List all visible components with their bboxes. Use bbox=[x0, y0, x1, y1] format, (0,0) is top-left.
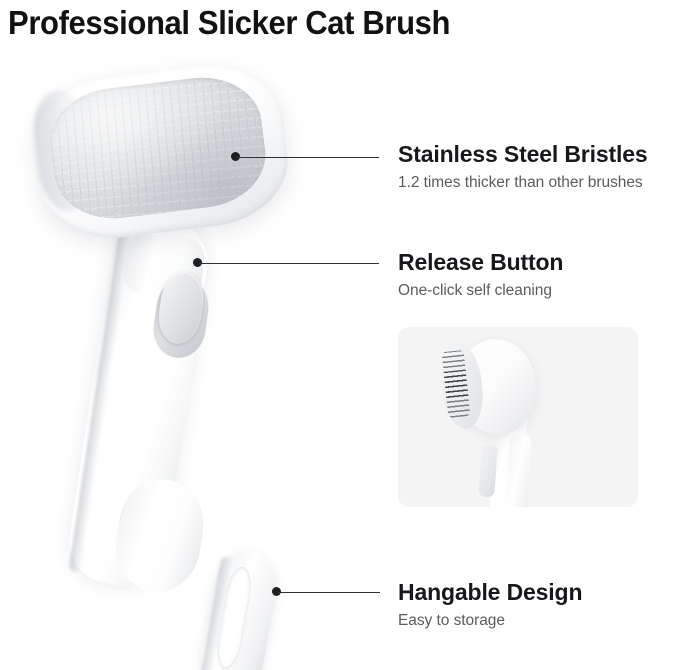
callout-release-subtext: One-click self cleaning bbox=[398, 280, 563, 302]
bristle-pad-sheen bbox=[45, 71, 271, 226]
callout-release-heading: Release Button bbox=[398, 249, 563, 276]
callout-bristles: Stainless Steel Bristles 1.2 times thick… bbox=[398, 141, 648, 194]
callout-release: Release Button One-click self cleaning bbox=[398, 249, 563, 302]
inset-stem bbox=[506, 434, 532, 507]
callout-bristles-subtext: 1.2 times thicker than other brushes bbox=[398, 172, 648, 194]
inset-bristles-dark bbox=[444, 370, 469, 398]
bristle-pad bbox=[45, 71, 271, 226]
callout-bristles-heading: Stainless Steel Bristles bbox=[398, 141, 648, 168]
brush-side-view-photo bbox=[398, 327, 638, 507]
page-title: Professional Slicker Cat Brush bbox=[8, 0, 450, 46]
slicker-cat-brush-photo bbox=[0, 50, 390, 670]
callout-hangable-heading: Hangable Design bbox=[398, 579, 582, 606]
callout-hangable-subtext: Easy to storage bbox=[398, 610, 582, 632]
callout-hangable: Hangable Design Easy to storage bbox=[398, 579, 582, 632]
